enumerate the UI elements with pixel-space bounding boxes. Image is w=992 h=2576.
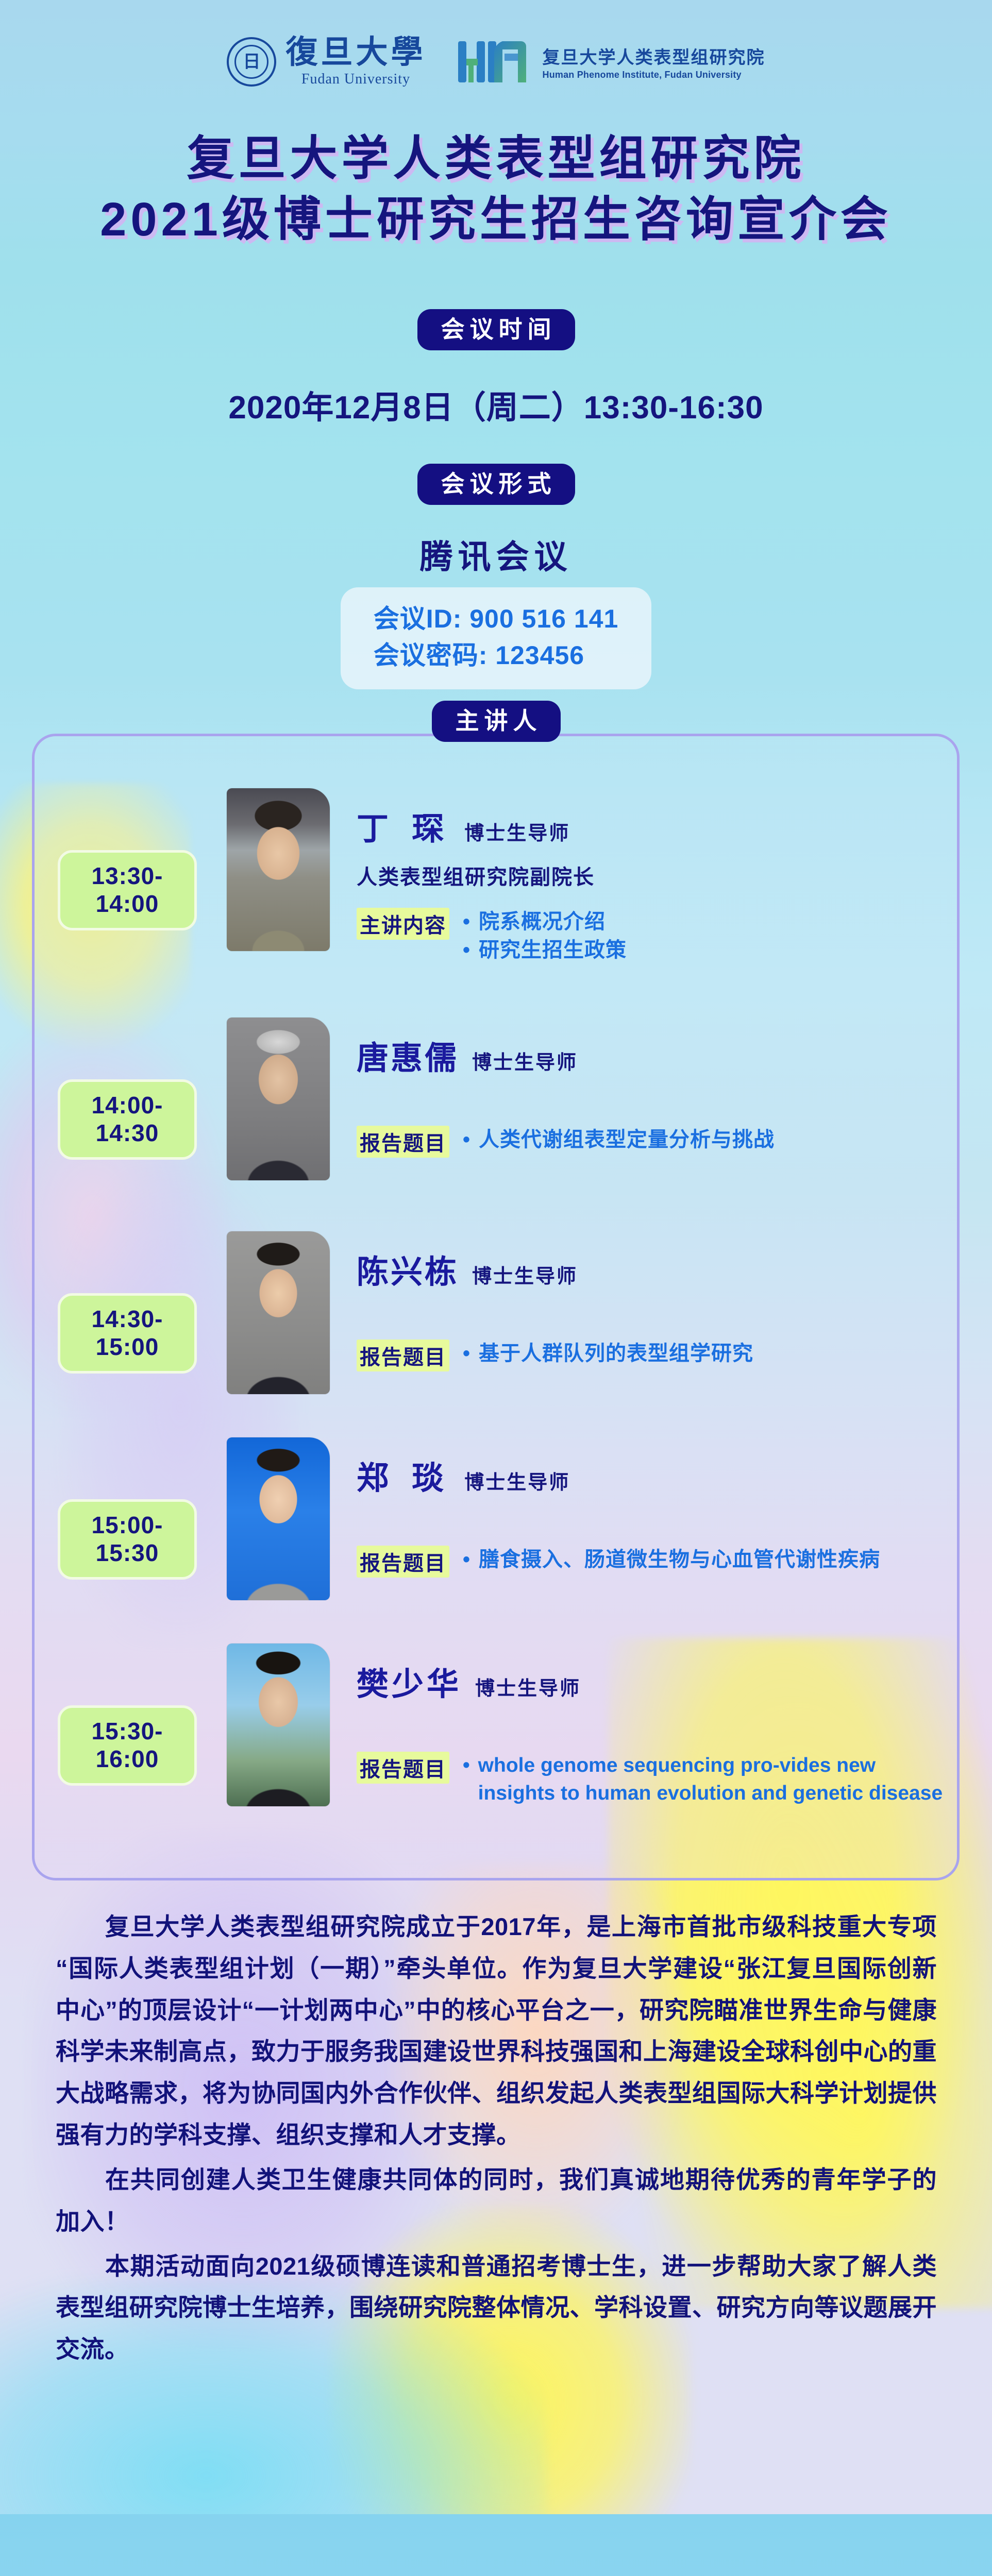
speaker-1-topic-list: •院系概况介绍 •研究生招生政策 [463,908,627,964]
speaker-1-role: 博士生导师 [464,817,570,845]
speaker-row-1[interactable]: 13:30-14:00 丁 琛 博士生导师 人类表型组研究院副院长 主讲内容 •… [32,788,960,965]
speaker-1-topic-item: •研究生招生政策 [463,936,627,964]
speaker-5-topic-text-1: whole genome sequencing pro-vides new in… [478,1752,947,1807]
sky-background [0,2514,992,2576]
title-line-1: 复旦大学人类表型组研究院 [0,129,992,190]
speaker-2-topic-item: •人类代谢组表型定量分析与挑战 [463,1126,775,1154]
speaker-1-topic-text-2: 研究生招生政策 [479,936,627,964]
fudan-logo-en: Fudan University [285,71,426,88]
speaker-4-topic-label: 报告题目 [357,1546,449,1578]
speaker-1-topic-item: •院系概况介绍 [463,908,627,936]
meeting-time-value-row: 2020年12月8日（周二）13:30-16:30 [0,381,992,428]
speaker-5-topic-item: •whole genome sequencing pro-vides new i… [463,1752,947,1807]
bullet-icon: • [463,908,470,936]
speakers-section-pill: 主讲人 [432,701,561,742]
body-paragraph-3: 本期活动面向2021级硕博连读和普通招考博士生，进一步帮助大家了解人类表型组研究… [56,2246,937,2370]
speaker-2-topic-list: •人类代谢组表型定量分析与挑战 [463,1126,775,1154]
speaker-row-4[interactable]: 15:00-15:30 郑 琰 博士生导师 报告题目 •膳食摄入、肠道微生物与心… [32,1437,960,1600]
speakers-pill-row: 主讲人 [0,701,992,742]
speaker-1-time-badge: 13:30-14:00 [58,850,197,930]
speaker-5-name: 樊少华 [357,1667,462,1702]
speaker-5-portrait [227,1643,330,1806]
hpi-monogram-icon [455,38,532,86]
fudan-logo-cn: 復旦大學 [285,36,426,70]
speaker-row-5[interactable]: 15:30-16:00 樊少华 博士生导师 报告题目 •whole genome… [32,1643,960,1807]
speaker-3-topic-text-1: 基于人群队列的表型组学研究 [479,1340,753,1368]
hpi-logo-cn: 复旦大学人类表型组研究院 [543,43,765,69]
speaker-2-topic-text-1: 人类代谢组表型定量分析与挑战 [479,1126,775,1154]
speaker-row-3[interactable]: 14:30-15:00 陈兴栋 博士生导师 报告题目 •基于人群队列的表型组学研… [32,1231,960,1394]
bullet-icon: • [463,1340,470,1368]
meeting-credentials-card: 会议ID: 900 516 141 会议密码: 123456 [341,587,652,689]
speaker-5-role: 博士生导师 [475,1672,581,1701]
meeting-time-pill-row: 会议时间 [0,309,992,350]
speaker-4-portrait [227,1437,330,1600]
title-line-2: 2021级博士研究生招生咨询宣介会 [0,190,992,250]
speaker-1-subtitle: 人类表型组研究院副院长 [357,860,960,890]
meeting-time-pill: 会议时间 [417,309,575,350]
speaker-row-2[interactable]: 14:00-14:30 唐惠儒 博士生导师 报告题目 •人类代谢组表型定量分析与… [32,1018,960,1180]
meeting-credentials-row: 会议ID: 900 516 141 会议密码: 123456 [0,587,992,689]
speaker-3-topic-list: •基于人群队列的表型组学研究 [463,1340,753,1368]
speaker-4-topic-text-1: 膳食摄入、肠道微生物与心血管代谢性疾病 [479,1546,880,1574]
speaker-1-topic-label: 主讲内容 [357,908,449,940]
speaker-3-topic-item: •基于人群队列的表型组学研究 [463,1340,753,1368]
bullet-icon: • [463,936,470,964]
speaker-2-name: 唐惠儒 [357,1041,459,1076]
meeting-format-pill-row: 会议形式 [0,464,992,505]
speaker-1-portrait [227,788,330,951]
bullet-icon: • [463,1126,470,1154]
meeting-id-value: 会议ID: 900 516 141 [374,601,619,637]
speaker-1-name: 丁 琛 [357,812,451,847]
meeting-password-value: 会议密码: 123456 [374,637,619,674]
speaker-2-time-badge: 14:00-14:30 [58,1079,197,1160]
bullet-icon: • [463,1546,470,1574]
speaker-3-portrait [227,1231,330,1394]
speaker-2-role: 博士生导师 [472,1046,578,1075]
speaker-4-topic-list: •膳食摄入、肠道微生物与心血管代谢性疾病 [463,1546,880,1574]
speaker-1-topic-text-1: 院系概况介绍 [479,908,606,936]
header-logos: 日 復旦大學 Fudan University [0,21,992,103]
poster-root: 日 復旦大學 Fudan University [0,0,992,2576]
speaker-5-time-badge: 15:30-16:00 [58,1705,197,1786]
meeting-platform-row: 腾讯会议 [0,531,992,578]
speaker-3-role: 博士生导师 [472,1260,578,1289]
hpi-logo-en: Human Phenome Institute, Fudan Universit… [543,70,765,80]
body-copy: 复旦大学人类表型组研究院成立于2017年，是上海市首批市级科技重大专项“国际人类… [56,1906,937,2374]
speaker-3-topic-label: 报告题目 [357,1340,449,1371]
fudan-university-logo: 日 復旦大學 Fudan University [227,36,426,87]
hpi-logo: 复旦大学人类表型组研究院 Human Phenome Institute, Fu… [455,38,765,86]
speaker-4-topic-item: •膳食摄入、肠道微生物与心血管代谢性疾病 [463,1546,880,1574]
speaker-5-topic-list: •whole genome sequencing pro-vides new i… [463,1752,947,1807]
body-paragraph-1: 复旦大学人类表型组研究院成立于2017年，是上海市首批市级科技重大专项“国际人类… [56,1906,937,2156]
fudan-seal-glyph: 日 [229,54,274,71]
speaker-4-role: 博士生导师 [464,1466,570,1495]
fudan-seal-icon: 日 [227,37,276,87]
bullet-icon: • [463,1752,470,1807]
body-paragraph-2: 在共同创建人类卫生健康共同体的同时，我们真诚地期待优秀的青年学子的加入！ [56,2159,937,2243]
meeting-format-pill: 会议形式 [417,464,575,505]
speaker-3-time-badge: 14:30-15:00 [58,1293,197,1374]
speaker-4-name: 郑 琰 [357,1461,451,1496]
meeting-platform-value: 腾讯会议 [420,538,573,575]
speaker-3-name: 陈兴栋 [357,1255,459,1290]
speaker-4-time-badge: 15:00-15:30 [58,1499,197,1580]
speaker-5-topic-label: 报告题目 [357,1752,449,1784]
meeting-time-value: 2020年12月8日（周二）13:30-16:30 [228,390,763,426]
speaker-2-portrait [227,1018,330,1180]
poster-title: 复旦大学人类表型组研究院 2021级博士研究生招生咨询宣介会 [0,129,992,250]
speaker-2-topic-label: 报告题目 [357,1126,449,1158]
